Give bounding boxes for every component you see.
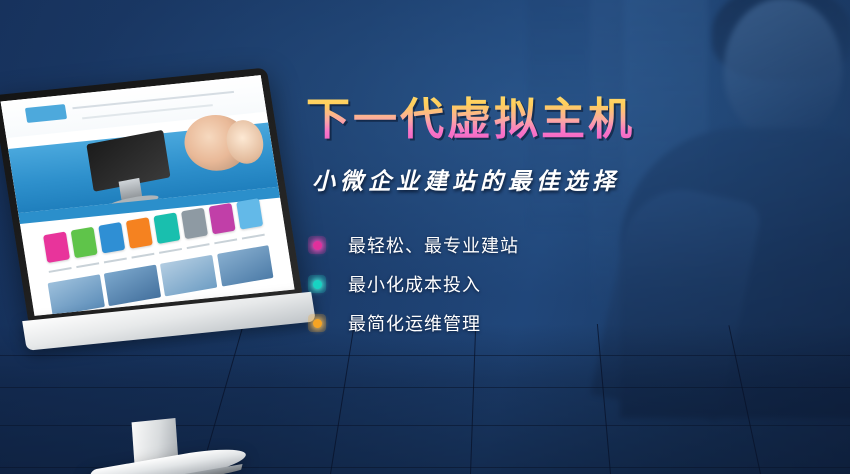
bullet-dot-icon [308, 236, 326, 254]
list-item: 最小化成本投入 [308, 265, 726, 304]
app-icon [236, 198, 263, 230]
perspective-floor [0, 324, 850, 474]
site-thumbnail [217, 245, 274, 286]
site-thumbnail [104, 264, 161, 305]
app-icon [98, 222, 125, 254]
list-item: 最轻松、最专业建站 [308, 226, 726, 265]
site-thumbnail [161, 255, 218, 296]
app-icon [126, 217, 153, 249]
feature-label: 最轻松、最专业建站 [348, 232, 519, 258]
app-icon [208, 203, 235, 235]
page-subtitle: 小微企业建站的最佳选择 [312, 162, 726, 196]
app-icon [181, 208, 208, 240]
monitor-bezel [0, 67, 302, 322]
monitor-screen [1, 75, 295, 316]
silhouette-head [724, 0, 842, 138]
list-item: 最简化运维管理 [308, 304, 726, 343]
banner-copy: 下一代虚拟主机 小微企业建站的最佳选择 最轻松、最专业建站 最小化成本投入 最简 [306, 96, 726, 343]
app-icon [43, 232, 70, 264]
desktop-monitor [0, 67, 302, 322]
feature-label: 最小化成本投入 [348, 271, 481, 297]
feature-label: 最简化运维管理 [348, 310, 481, 336]
app-icon [71, 227, 98, 259]
app-icon [153, 213, 180, 245]
page-title: 下一代虚拟主机 [306, 96, 726, 144]
site-thumbnail [48, 274, 105, 315]
hero-banner: 下一代虚拟主机 小微企业建站的最佳选择 最轻松、最专业建站 最小化成本投入 最简 [0, 0, 850, 474]
feature-list: 最轻松、最专业建站 最小化成本投入 最简化运维管理 [308, 226, 726, 343]
website-mockup [1, 75, 295, 316]
bullet-dot-icon [308, 314, 326, 332]
bullet-dot-icon [308, 275, 326, 293]
